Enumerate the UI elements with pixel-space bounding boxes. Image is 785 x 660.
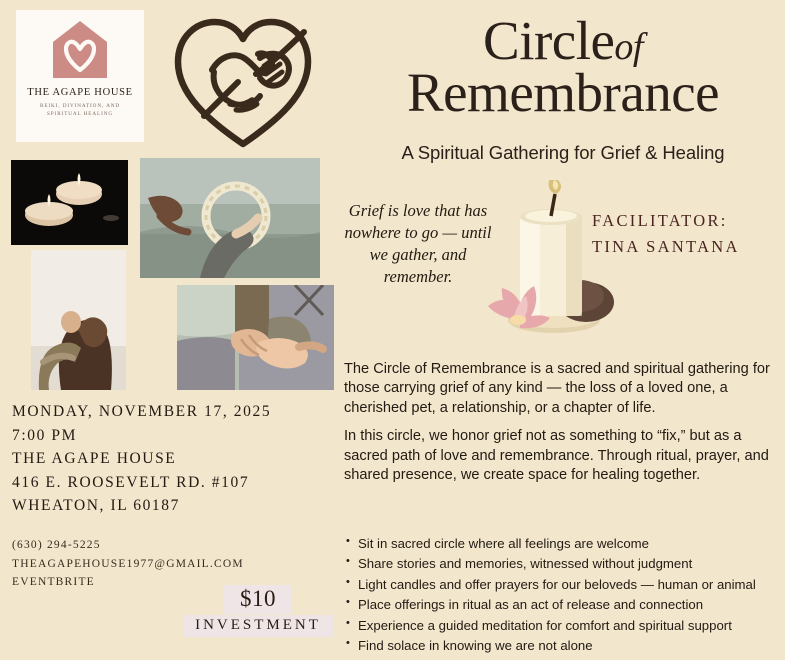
logo-tagline: REIKI, DIVINATION, AND SPIRITUAL HEALING	[25, 103, 135, 119]
grief-quote: Grief is love that has nowhere to go — u…	[344, 200, 492, 288]
facilitator-name: TINA SANTANA	[592, 234, 782, 260]
contact-email[interactable]: THEAGAPEHOUSE1977@GMAIL.COM	[12, 555, 342, 574]
body-paragraph-1: The Circle of Remembrance is a sacred an…	[344, 360, 774, 418]
contact-info: (630) 294-5225 THEAGAPEHOUSE1977@GMAIL.C…	[12, 536, 342, 592]
photo-floating-candles	[11, 160, 128, 245]
contact-phone[interactable]: (630) 294-5225	[12, 536, 342, 555]
list-item: Sit in sacred circle where all feelings …	[344, 534, 778, 554]
page-title: Circleof Remembrance	[345, 14, 781, 120]
list-item: Find solace in knowing we are not alone	[344, 636, 778, 656]
page-subtitle: A Spiritual Gathering for Grief & Healin…	[345, 142, 781, 164]
list-item: Place offerings in ritual as an act of r…	[344, 595, 778, 615]
body-copy: The Circle of Remembrance is a sacred an…	[344, 360, 774, 485]
offering-list: Sit in sacred circle where all feelings …	[344, 534, 778, 657]
price-label: INVESTMENT	[183, 615, 333, 637]
flyer-canvas: THE AGAPE HOUSE REIKI, DIVINATION, AND S…	[0, 0, 785, 660]
photo-flower-wreath-water	[140, 158, 320, 278]
event-time: 7:00 PM	[12, 424, 342, 448]
list-item: Experience a guided meditation for comfo…	[344, 616, 778, 636]
logo-name: THE AGAPE HOUSE	[27, 87, 133, 98]
photo-held-hands	[177, 285, 334, 390]
heart-hands-icon	[168, 8, 318, 153]
body-paragraph-2: In this circle, we honor grief not as so…	[344, 427, 774, 485]
event-venue: THE AGAPE HOUSE	[12, 447, 342, 471]
list-item: Light candles and offer prayers for our …	[344, 575, 778, 595]
facilitator-label: FACILITATOR:	[592, 208, 782, 234]
title-line2: Remembrance	[345, 66, 781, 120]
house-heart-icon	[49, 18, 111, 80]
event-date: MONDAY, NOVEMBER 17, 2025	[12, 400, 342, 424]
list-item: Share stories and memories, witnessed wi…	[344, 554, 778, 574]
event-details: MONDAY, NOVEMBER 17, 2025 7:00 PM THE AG…	[12, 400, 342, 518]
event-address-line1: 416 E. ROOSEVELT RD. #107	[12, 471, 342, 495]
event-address-line2: WHEATON, IL 60187	[12, 494, 342, 518]
price-amount: $10	[224, 585, 292, 614]
price-badge: $10 INVESTMENT	[178, 585, 338, 637]
facilitator-block: FACILITATOR: TINA SANTANA	[592, 208, 782, 259]
candle-lotus-stone-illustration	[482, 180, 622, 345]
photo-embrace	[31, 250, 126, 390]
agape-house-logo: THE AGAPE HOUSE REIKI, DIVINATION, AND S…	[16, 10, 144, 142]
